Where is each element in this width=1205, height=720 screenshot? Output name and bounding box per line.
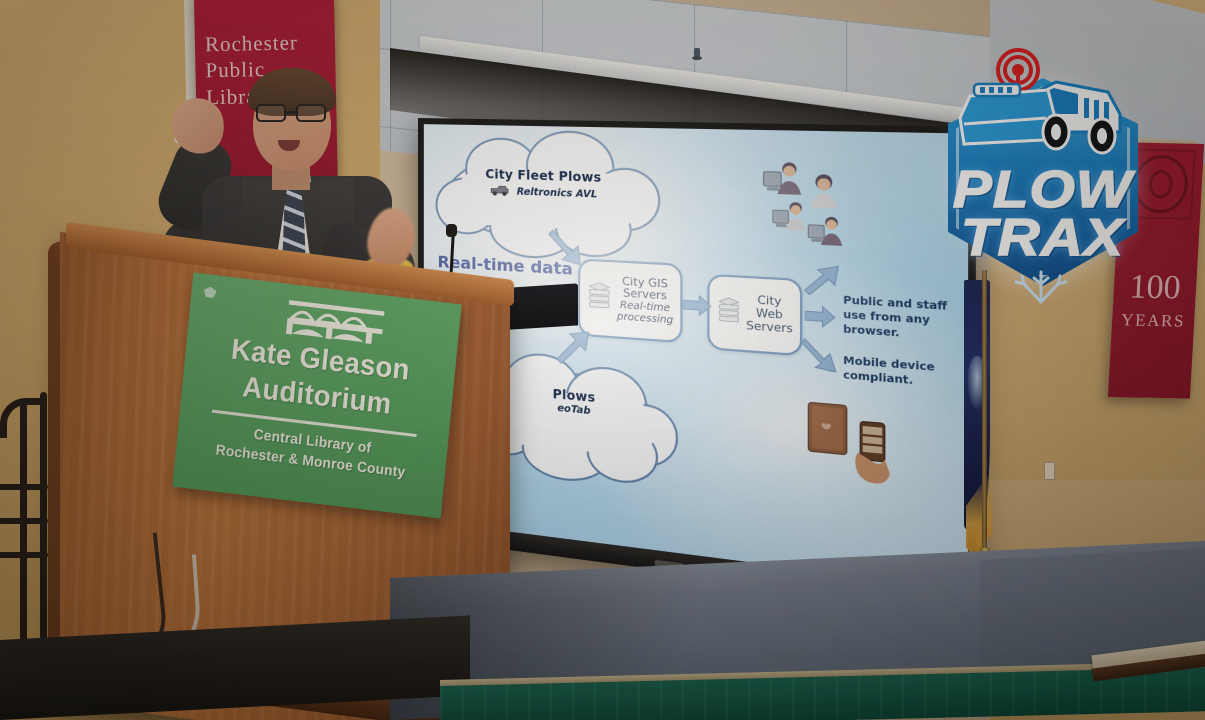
plow-truck-icon <box>958 48 1134 160</box>
node-city-gis-servers-label: City GIS Servers Real-time processing <box>617 276 673 327</box>
tablet-icon <box>807 401 848 462</box>
logo-text-trax: TRAX <box>917 208 1169 268</box>
server-stack-icon <box>587 279 613 317</box>
user-at-computer-icon <box>807 215 845 256</box>
bridge-icon <box>286 300 385 345</box>
light-switch-icon <box>1044 462 1055 480</box>
node-city-web-servers-label: City Web Servers <box>746 295 793 337</box>
eyeglasses-icon <box>254 104 330 122</box>
cloud-subtitle: Reltronics AVL <box>517 187 598 201</box>
arrow-web-to-browser <box>805 305 836 329</box>
hand-holding-phone-icon <box>850 418 894 493</box>
user-at-computer-icon <box>762 161 804 205</box>
microphone-icon <box>446 224 457 237</box>
cloud-city-fleet-plows-label: City Fleet Plows Reltronics AVL <box>453 167 636 206</box>
callout-mobile-compliant: Mobile device compliant. <box>843 355 935 391</box>
arrow-gis-to-web <box>683 294 712 317</box>
user-at-computer-icon <box>772 200 810 240</box>
plow-truck-icon <box>489 183 509 202</box>
banner-label: YEARS <box>1116 310 1191 332</box>
kate-gleason-auditorium-sign: Kate Gleason Auditorium Central Library … <box>172 273 461 519</box>
arrow-fleet-to-gis <box>549 228 598 272</box>
flag-pole <box>982 270 987 566</box>
arrow-web-to-users <box>802 263 840 296</box>
photo-scene: City Fleet Plows Reltronics AVL <box>0 0 1205 720</box>
user-icon <box>809 173 838 215</box>
snowflake-icon <box>1012 270 1070 304</box>
server-stack-icon <box>716 294 741 331</box>
sprinkler-head-icon <box>692 48 702 62</box>
gem-icon <box>203 286 217 298</box>
arrow-web-to-mobile <box>802 336 840 372</box>
node-city-web-servers: City Web Servers <box>707 274 802 357</box>
plowtrax-logo: PLOW TRAX <box>930 40 1155 305</box>
banner-left-line-1: Rochester <box>205 29 331 58</box>
